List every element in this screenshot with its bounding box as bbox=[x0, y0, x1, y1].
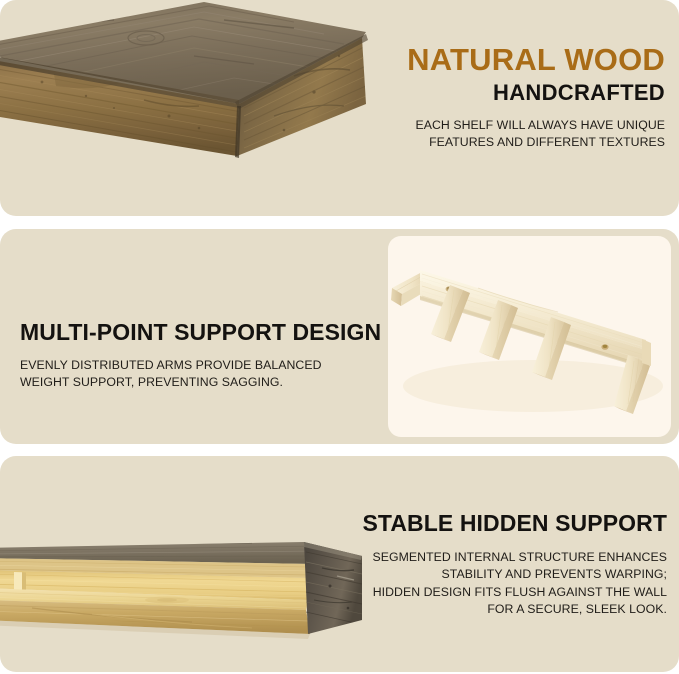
panel-1-body-line-2: FEATURES AND DIFFERENT TEXTURES bbox=[407, 134, 665, 151]
panel-3-body-line-4: FOR A SECURE, SLEEK LOOK. bbox=[362, 601, 667, 618]
panel-3-body-line-3: HIDDEN DESIGN FITS FLUSH AGAINST THE WAL… bbox=[362, 584, 667, 601]
pine-mounting-bracket-image bbox=[388, 236, 671, 437]
panel-1-body-line-1: EACH SHELF WILL ALWAYS HAVE UNIQUE bbox=[407, 117, 665, 134]
panel-3-text-block: STABLE HIDDEN SUPPORT SEGMENTED INTERNAL… bbox=[362, 512, 667, 619]
panel-2-body-line-2: WEIGHT SUPPORT, PREVENTING SAGGING. bbox=[20, 374, 381, 391]
panel-natural-wood: NATURAL WOOD HANDCRAFTED EACH SHELF WILL… bbox=[0, 0, 679, 216]
hollow-shelf-cutaway-image bbox=[0, 508, 377, 656]
panel-2-heading: MULTI-POINT SUPPORT DESIGN bbox=[20, 321, 381, 344]
bracket-screw-hole-2 bbox=[601, 344, 608, 350]
panel-3-body-line-2: STABILITY AND PREVENTS WARPING; bbox=[362, 566, 667, 583]
panel-3-body-line-1: SEGMENTED INTERNAL STRUCTURE ENHANCES bbox=[362, 549, 667, 566]
panel-multi-point-support: MULTI-POINT SUPPORT DESIGN EVENLY DISTRI… bbox=[0, 229, 679, 444]
panel-3-heading: STABLE HIDDEN SUPPORT bbox=[362, 512, 667, 535]
panel-2-text-block: MULTI-POINT SUPPORT DESIGN EVENLY DISTRI… bbox=[20, 321, 381, 392]
rustic-wood-shelf-block-image bbox=[0, 0, 379, 204]
panel-1-heading-accent: NATURAL WOOD bbox=[407, 44, 665, 75]
panel-1-text-block: NATURAL WOOD HANDCRAFTED EACH SHELF WILL… bbox=[407, 44, 665, 152]
panel-stable-hidden-support: STABLE HIDDEN SUPPORT SEGMENTED INTERNAL… bbox=[0, 456, 679, 672]
panel-1-heading-sub: HANDCRAFTED bbox=[407, 82, 665, 104]
panel-2-body-line-1: EVENLY DISTRIBUTED ARMS PROVIDE BALANCED bbox=[20, 357, 381, 374]
